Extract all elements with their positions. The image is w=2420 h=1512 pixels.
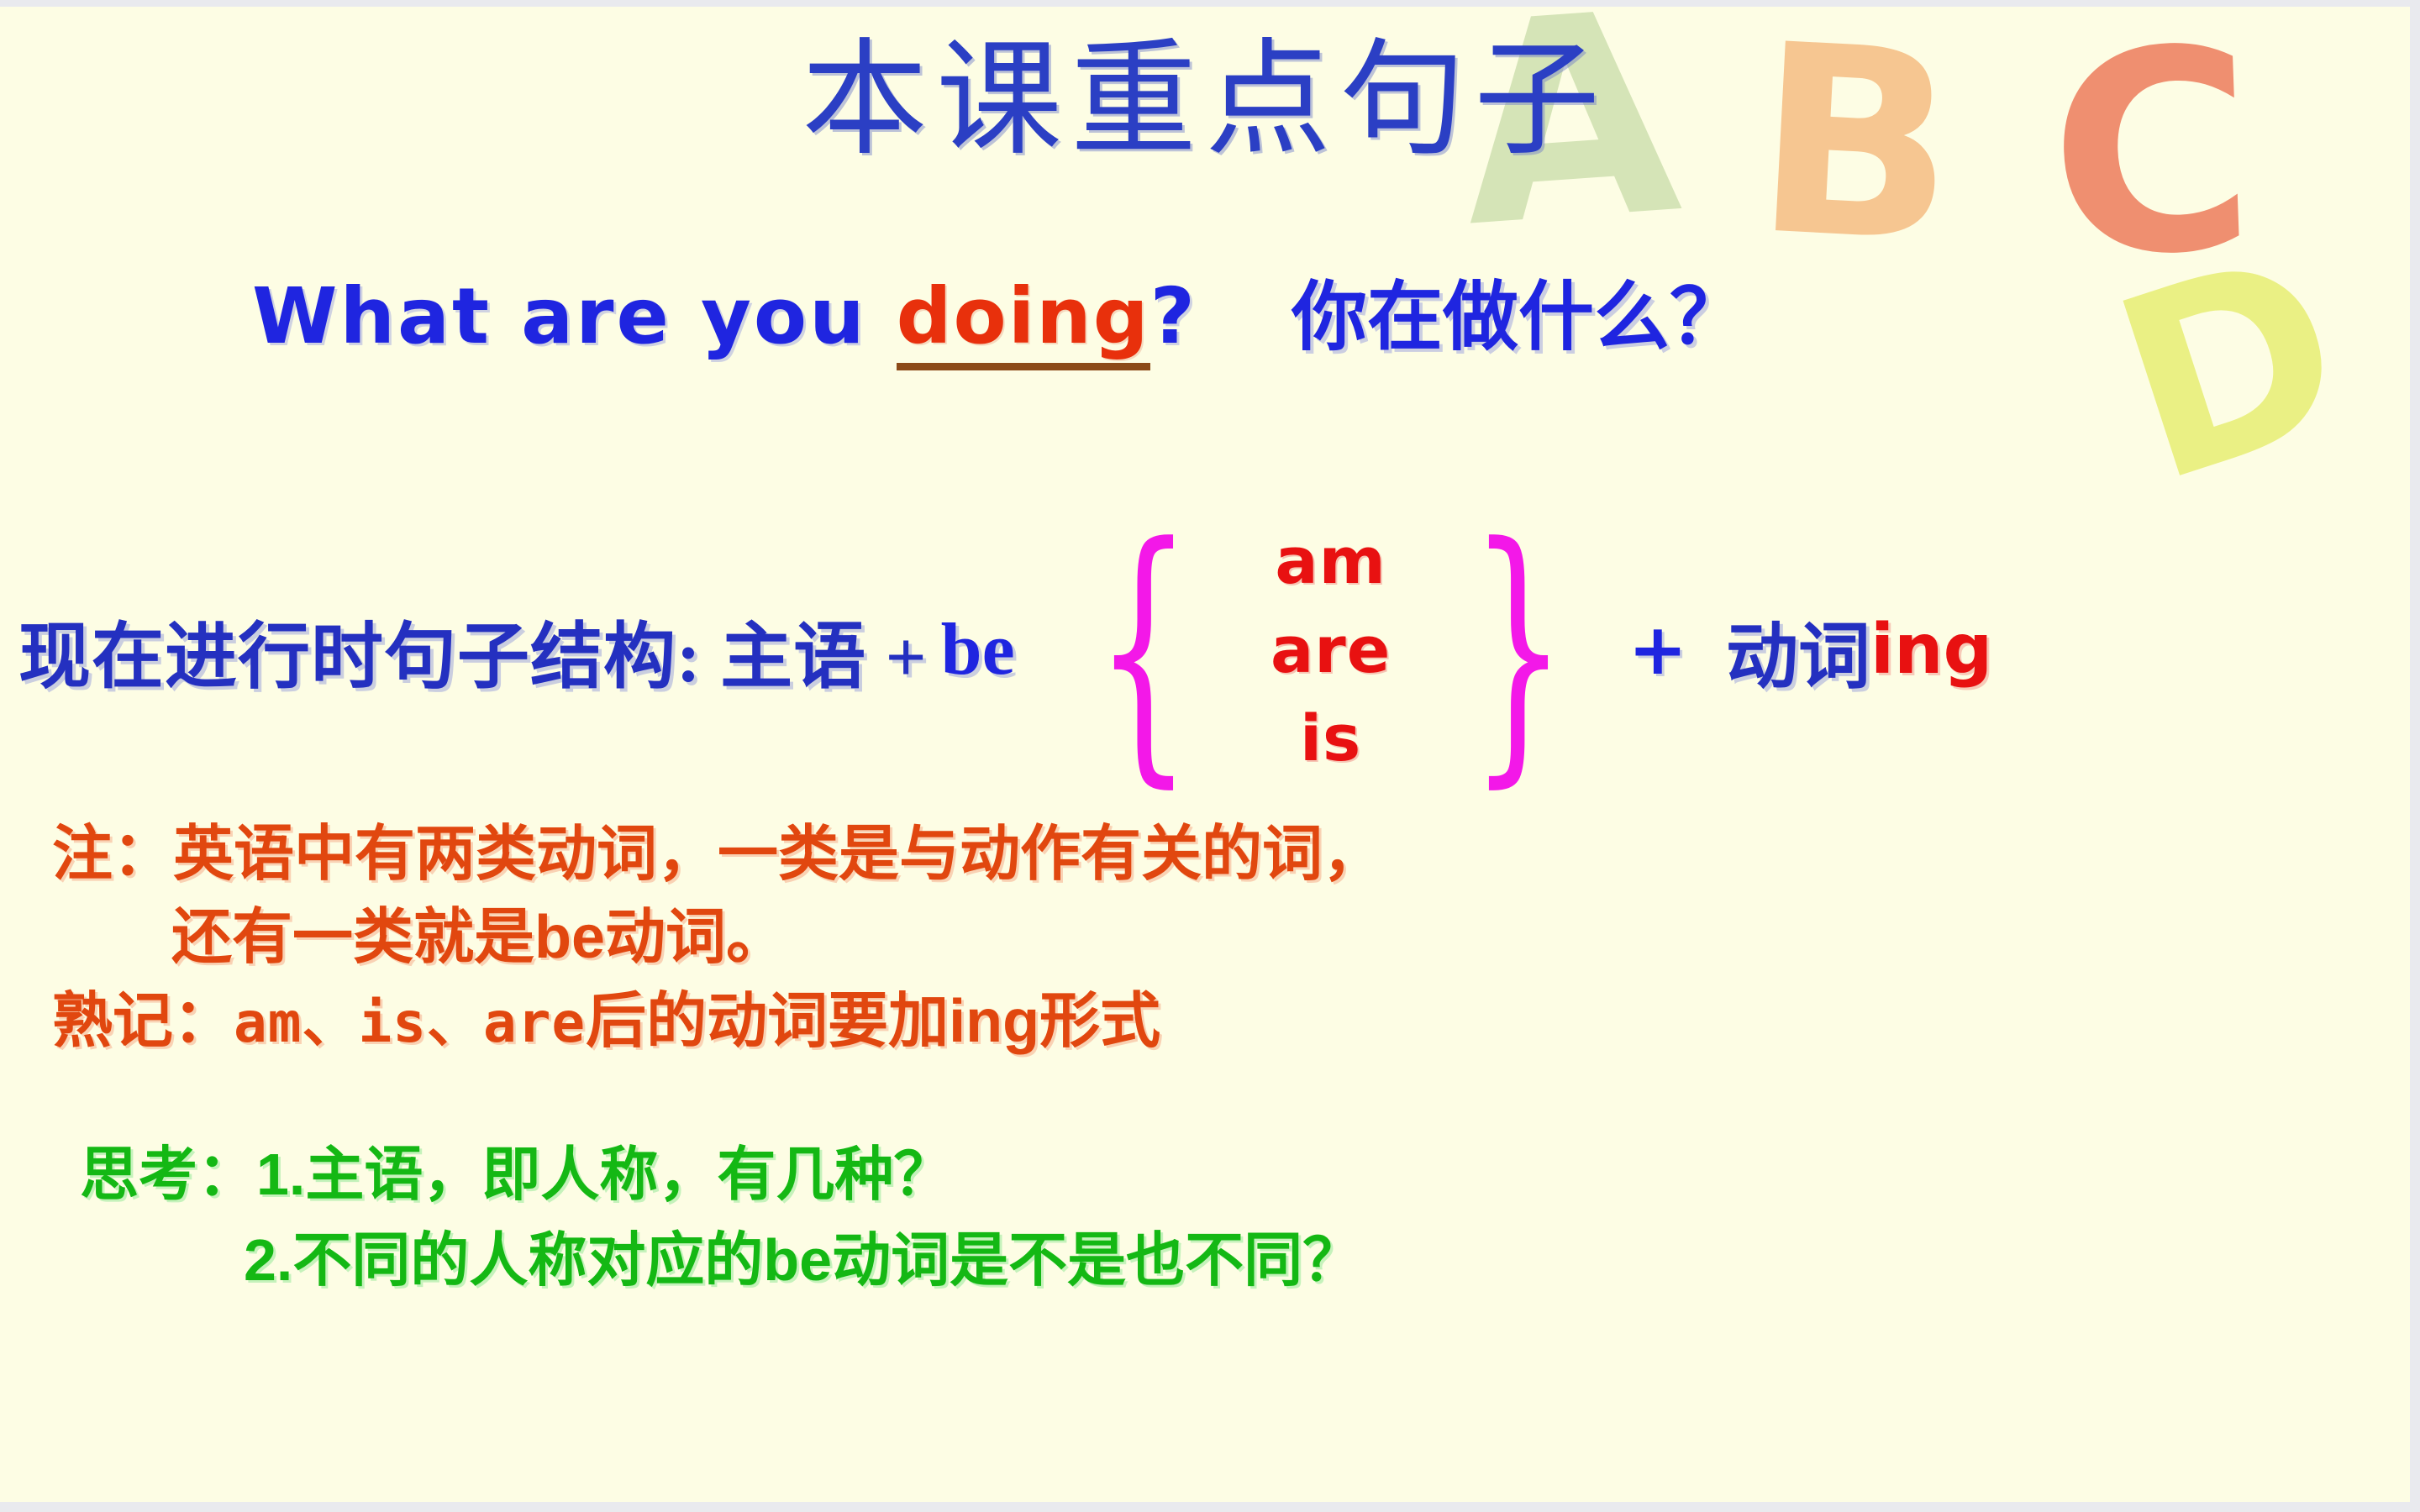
brace-close-icon: } <box>1470 564 1566 736</box>
slide-canvas: A B C D 本课重点句子 What are you doing?你在做什么？… <box>0 7 2410 1502</box>
structure-verb-label: 动词 <box>1726 597 1870 702</box>
page-title: 本课重点句子 <box>802 32 1608 171</box>
be-form-am: am <box>1275 523 1386 598</box>
note-line-3: 熟记：am、is、are后的动词要加ing形式 <box>52 980 2153 1063</box>
think-question-1: 思考：1.主语，即人称，有几种？ <box>80 1132 2181 1218</box>
question-chinese-translation: 你在做什么？ <box>1292 276 1745 360</box>
note-memorize-suffix: 后的动词要加ing形式 <box>586 988 1160 1055</box>
structure-be-word: be <box>941 607 1015 692</box>
be-form-are: are <box>1270 612 1391 687</box>
be-forms-brace-group: { am are is } <box>1055 511 1607 788</box>
note-be-forms-mono: am、is、are <box>234 990 586 1055</box>
sentence-structure-row: 现在进行时句子结构: 主语 + be { am are is } + 动词ing <box>18 511 2396 788</box>
think-question-2: 2.不同的人称对应的be动词是不是也不同？ <box>80 1218 2181 1304</box>
be-form-is: is <box>1300 701 1361 775</box>
page-title-row: 本课重点句子 <box>0 32 2410 171</box>
question-mark: ? <box>1150 271 1195 361</box>
note-block: 注：英语中有两类动词，一类是与动作有关的词， 还有一类就是be动词。 熟记：am… <box>52 813 2153 1063</box>
think-block: 思考：1.主语，即人称，有几种？ 2.不同的人称对应的be动词是不是也不同？ <box>80 1132 2181 1303</box>
be-forms-stack: am are is <box>1213 523 1449 775</box>
structure-verb-suffix: ing <box>1870 610 1992 690</box>
example-question-row: What are you doing?你在做什么？ <box>252 255 2269 365</box>
question-english-highlight: doing <box>897 271 1150 370</box>
note-line-2: 还有一类就是be动词。 <box>52 896 2153 979</box>
brace-open-icon: { <box>1095 564 1192 736</box>
plus-sign-icon: + <box>1628 608 1687 690</box>
question-english-prefix: What are you <box>252 271 897 361</box>
structure-label: 现在进行时句子结构: 主语 + <box>18 597 928 702</box>
note-memorize-prefix: 熟记： <box>52 988 234 1055</box>
note-line-1: 注：英语中有两类动词，一类是与动作有关的词， <box>52 813 2153 896</box>
slide-frame: A B C D 本课重点句子 What are you doing?你在做什么？… <box>0 0 2420 1512</box>
